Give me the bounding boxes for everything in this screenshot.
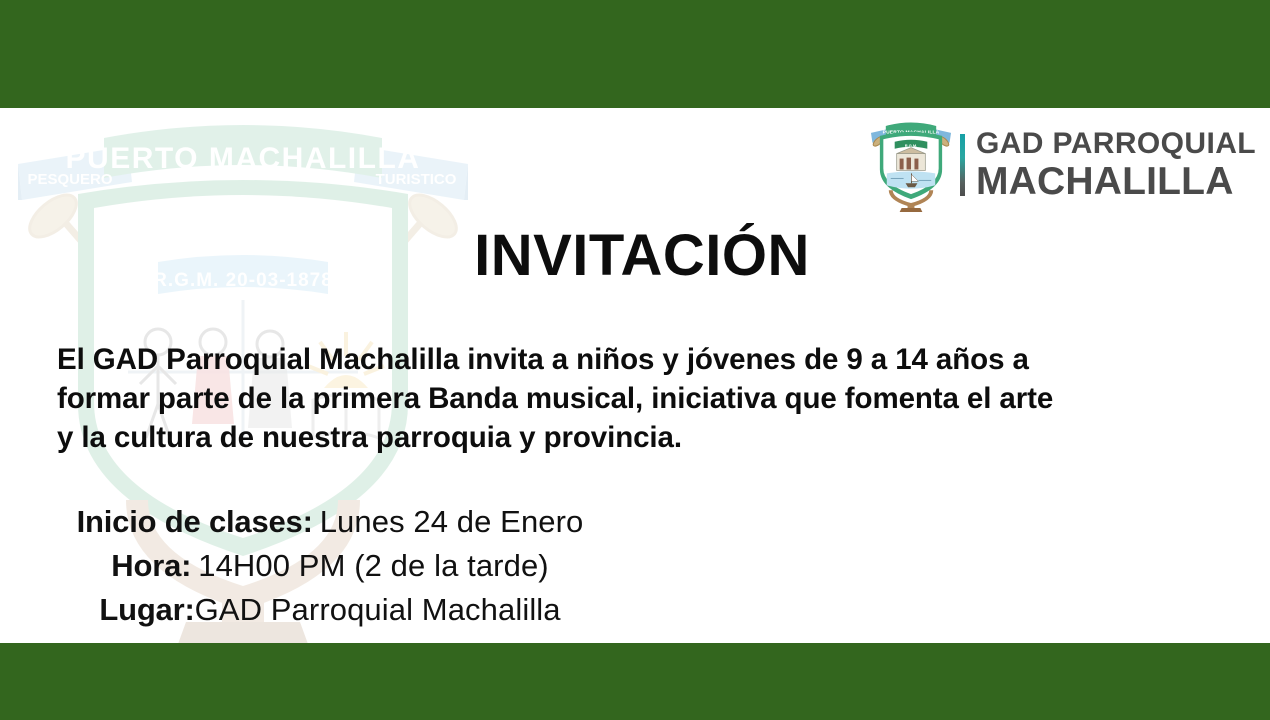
detail-value-place: GAD Parroquial Machalilla [195,592,561,627]
detail-label-time: Hora: [111,548,191,583]
paragraph-line-2: formar parte de la primera Banda musical… [57,379,1237,418]
event-details: Inicio de clases:Lunes 24 de Enero Hora:… [0,500,660,632]
brand-line-2: MACHALILLA [976,162,1256,201]
detail-row: Lugar:GAD Parroquial Machalilla [0,588,660,632]
detail-value-start-date: Lunes 24 de Enero [320,504,584,539]
brand-lockup: PUERTO MACHALILLA R.G.M. [869,118,1256,212]
brand-text: GAD PARROQUIAL MACHALILLA [976,129,1256,201]
top-green-bar [0,0,1270,108]
page-title: INVITACIÓN [0,222,1270,289]
watermark-banner-right-text: TURISTICO [376,171,457,188]
detail-row: Hora:14H00 PM (2 de la tarde) [0,544,660,588]
paragraph-line-3: y la cultura de nuestra parroquia y prov… [57,418,1237,457]
invitation-paragraph: El GAD Parroquial Machalilla invita a ni… [57,340,1237,458]
paragraph-line-1: El GAD Parroquial Machalilla invita a ni… [57,340,1237,379]
detail-row: Inicio de clases:Lunes 24 de Enero [0,500,660,544]
brand-line-1: GAD PARROQUIAL [976,129,1256,159]
watermark-banner-top-text: PUERTO MACHALILLA [66,142,421,175]
watermark-banner-left-text: PESQUERO [27,171,112,188]
detail-label-start-date: Inicio de clases: [77,504,313,539]
bottom-green-bar [0,643,1270,720]
invitation-poster: PUERTO MACHALILLA PESQUERO TURISTICO R.G… [0,0,1270,720]
gad-emblem-icon: PUERTO MACHALILLA R.G.M. [869,118,953,212]
detail-value-time: 14H00 PM (2 de la tarde) [198,548,548,583]
brand-divider [960,134,965,196]
detail-label-place: Lugar: [99,592,194,627]
